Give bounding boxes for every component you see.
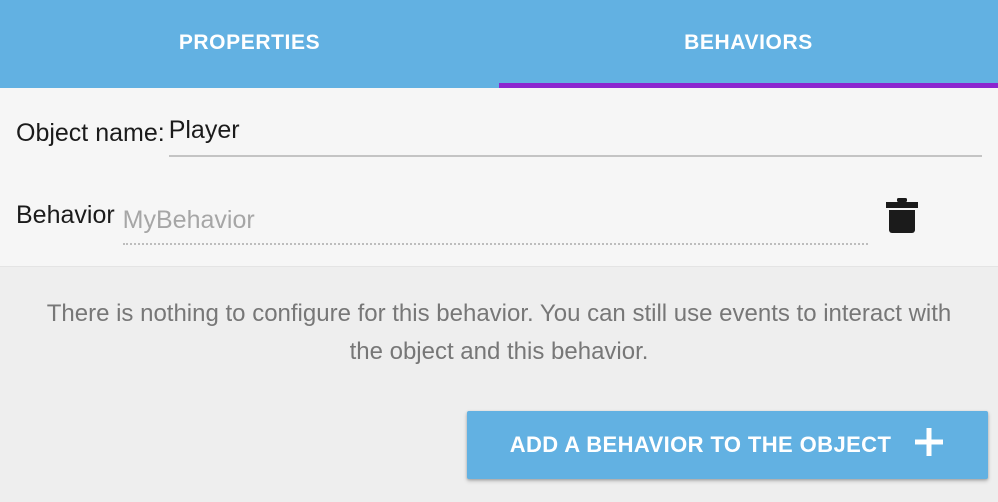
tab-behaviors-underline (499, 83, 998, 88)
add-behavior-button[interactable]: Add a behavior to the object (467, 411, 988, 479)
tab-properties[interactable]: PROPERTIES (0, 0, 499, 88)
object-name-input-wrap (169, 110, 982, 157)
object-name-underline (169, 155, 982, 157)
plus-icon (913, 426, 945, 464)
form-area: Object name: Behavior (0, 88, 998, 266)
delete-behavior-button[interactable] (876, 191, 928, 243)
object-name-row: Object name: (0, 88, 998, 178)
tab-properties-underline (0, 83, 499, 88)
behavior-input-wrap (123, 203, 868, 245)
behavior-name-underline (123, 243, 868, 245)
object-name-label: Object name: (16, 110, 165, 148)
add-behavior-button-holder: Add a behavior to the object (467, 411, 988, 479)
add-behavior-button-label: Add a behavior to the object (510, 434, 892, 456)
object-name-input[interactable] (169, 110, 982, 155)
trash-icon (885, 198, 919, 236)
object-editor-panel: PROPERTIES BEHAVIORS Object name: Behavi… (0, 0, 998, 502)
tab-properties-label: PROPERTIES (179, 32, 320, 57)
behavior-name-input[interactable] (123, 203, 868, 243)
tab-behaviors-label: BEHAVIORS (684, 32, 813, 57)
behavior-info-text: There is nothing to configure for this b… (39, 295, 959, 371)
behavior-info-panel: There is nothing to configure for this b… (0, 266, 998, 502)
behavior-label: Behavior (16, 200, 115, 248)
behavior-row: Behavior (0, 178, 998, 266)
tab-bar: PROPERTIES BEHAVIORS (0, 0, 998, 88)
tab-behaviors[interactable]: BEHAVIORS (499, 0, 998, 88)
